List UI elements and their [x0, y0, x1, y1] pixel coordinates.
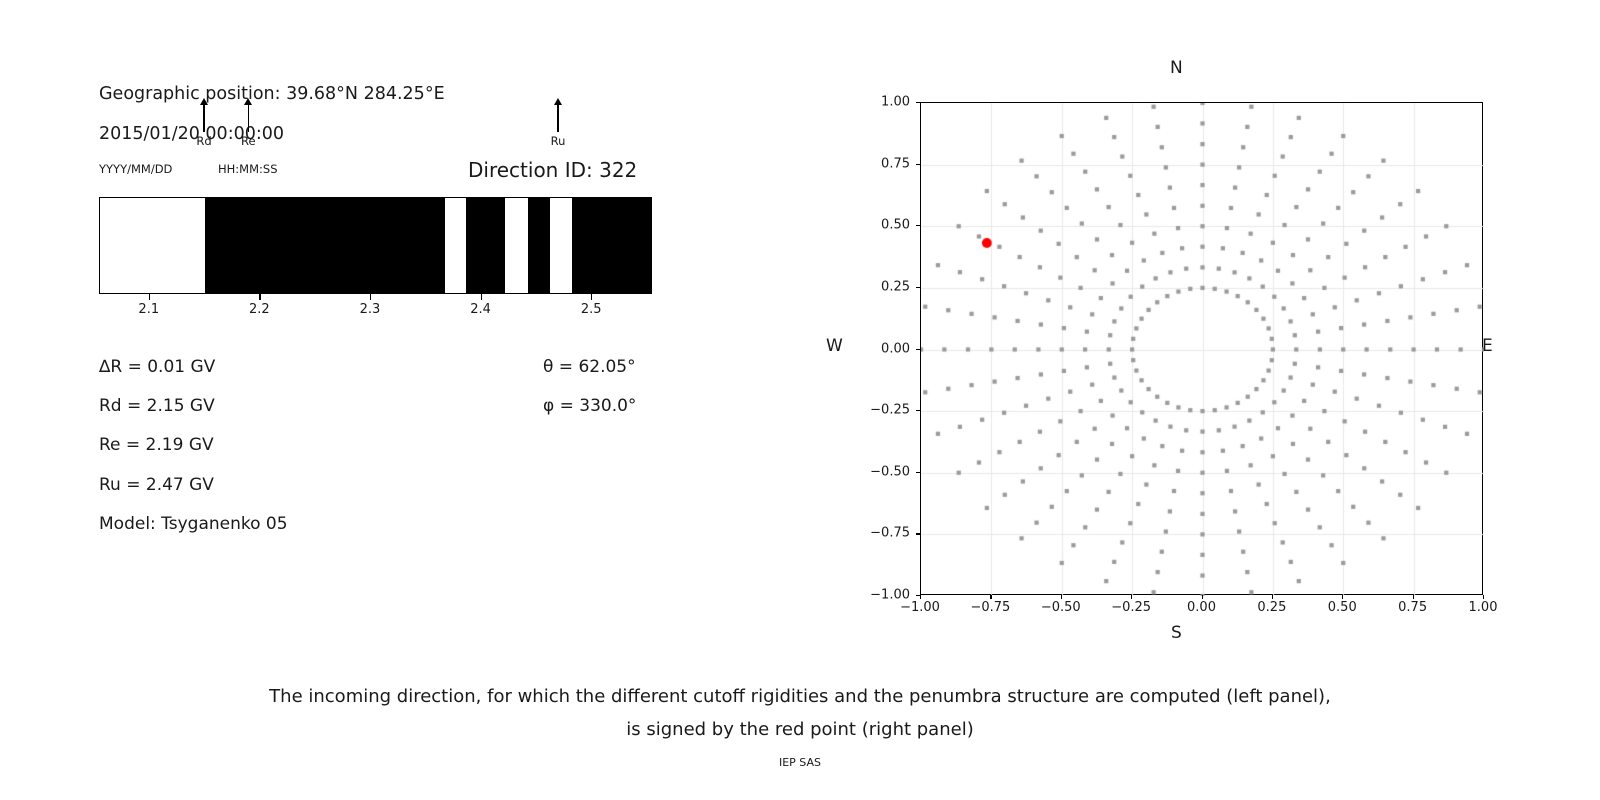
x-axis-tick-mark — [1413, 595, 1414, 599]
y-axis-tick-label: 1.00 — [852, 95, 910, 110]
compass-north-label: N — [1170, 58, 1183, 78]
x-axis-tick-label: 0.25 — [1257, 600, 1286, 615]
penumbra-axis-tick-label: 2.4 — [470, 302, 491, 317]
y-axis-tick-mark — [916, 102, 920, 103]
penumbra-marker-re: Re — [228, 98, 268, 148]
y-axis-tick-label: −0.25 — [852, 403, 910, 418]
value-model: Model: Tsyganenko 05 — [99, 514, 288, 534]
penumbra-axis: 2.12.22.32.42.5 — [99, 294, 652, 302]
time-format-hint: HH:MM:SS — [218, 162, 278, 176]
x-axis-tick-mark — [1483, 595, 1484, 599]
penumbra-axis-tick-label: 2.3 — [360, 302, 381, 317]
x-axis-tick-label: −0.75 — [970, 600, 1010, 615]
penumbra-marker-rd: Rd — [184, 98, 224, 148]
y-axis-tick-mark — [916, 225, 920, 226]
x-axis-tick-label: −0.50 — [1041, 600, 1081, 615]
penumbra-axis-tick-label: 2.2 — [249, 302, 270, 317]
x-axis-tick-mark — [1061, 595, 1062, 599]
x-axis-tick-mark — [1131, 595, 1132, 599]
arrow-shaft — [203, 105, 204, 132]
caption-line-1: The incoming direction, for which the di… — [0, 686, 1600, 707]
caption-line-2: is signed by the red point (right panel) — [0, 719, 1600, 740]
y-axis-tick-label: 0.50 — [852, 218, 910, 233]
y-axis-tick-mark — [916, 410, 920, 411]
penumbra-forbidden-band — [205, 198, 445, 293]
penumbra-axis-tick-label: 2.5 — [581, 302, 602, 317]
y-axis-tick-label: 0.00 — [852, 341, 910, 356]
penumbra-marker-label: Ru — [538, 134, 578, 148]
x-axis-tick-mark — [920, 595, 921, 599]
arrow-up-icon — [554, 98, 562, 105]
x-axis-tick-label: −0.25 — [1111, 600, 1151, 615]
value-re: Re = 2.19 GV — [99, 435, 214, 455]
penumbra-axis-tick-label: 2.1 — [138, 302, 159, 317]
y-axis-tick-label: 0.75 — [852, 156, 910, 171]
compass-west-label: W — [826, 336, 843, 356]
y-axis-tick-label: −0.75 — [852, 526, 910, 541]
y-axis-tick-mark — [916, 472, 920, 473]
penumbra-axis-tick — [481, 294, 482, 300]
compass-east-label: E — [1482, 336, 1493, 356]
arrow-shaft — [248, 105, 249, 132]
y-axis-tick-label: −1.00 — [852, 588, 910, 603]
arrow-up-icon — [244, 98, 252, 105]
penumbra-marker-label: Rd — [184, 134, 224, 148]
date-format-hint: YYYY/MM/DD — [99, 162, 172, 176]
penumbra-axis-tick — [370, 294, 371, 300]
direction-scatter-canvas — [921, 103, 1484, 596]
penumbra-forbidden-band — [572, 198, 652, 293]
y-axis-tick-mark — [916, 533, 920, 534]
x-axis-tick-label: 0.75 — [1398, 600, 1427, 615]
penumbra-axis-tick — [149, 294, 150, 300]
x-axis-tick-mark — [1202, 595, 1203, 599]
x-axis-tick-label: 1.00 — [1469, 600, 1498, 615]
penumbra-marker-label: Re — [228, 134, 268, 148]
arrow-up-icon — [200, 98, 208, 105]
y-axis-tick-label: 0.25 — [852, 279, 910, 294]
y-axis-tick-label: −0.50 — [852, 464, 910, 479]
y-axis-tick-mark — [916, 164, 920, 165]
value-ru: Ru = 2.47 GV — [99, 475, 214, 495]
x-axis-tick-mark — [1342, 595, 1343, 599]
x-axis-tick-mark — [1272, 595, 1273, 599]
penumbra-marker-ru: Ru — [538, 98, 578, 148]
arrow-shaft — [557, 105, 558, 132]
value-delta-r: ∆R = 0.01 GV — [99, 357, 215, 377]
x-axis-tick-label: 0.50 — [1328, 600, 1357, 615]
geographic-position-label: Geographic position: 39.68°N 284.25°E — [99, 84, 445, 104]
value-rd: Rd = 2.15 GV — [99, 396, 215, 416]
direction-id-label: Direction ID: 322 — [468, 158, 637, 182]
penumbra-forbidden-band — [466, 198, 506, 293]
penumbra-axis-tick — [259, 294, 260, 300]
direction-grid-plot — [920, 102, 1483, 595]
compass-south-label: S — [1171, 623, 1182, 643]
value-phi: φ = 330.0° — [543, 396, 636, 416]
y-axis-tick-mark — [916, 595, 920, 596]
footer-credit: IEP SAS — [0, 756, 1600, 769]
x-axis-tick-label: 0.00 — [1187, 600, 1216, 615]
y-axis-tick-mark — [916, 287, 920, 288]
penumbra-structure-bar — [99, 197, 652, 294]
x-axis-tick-mark — [990, 595, 991, 599]
value-theta: θ = 62.05° — [543, 357, 636, 377]
penumbra-forbidden-band — [528, 198, 550, 293]
left-panel: Geographic position: 39.68°N 284.25°E 20… — [0, 0, 800, 660]
y-axis-tick-mark — [916, 349, 920, 350]
penumbra-axis-tick — [591, 294, 592, 300]
